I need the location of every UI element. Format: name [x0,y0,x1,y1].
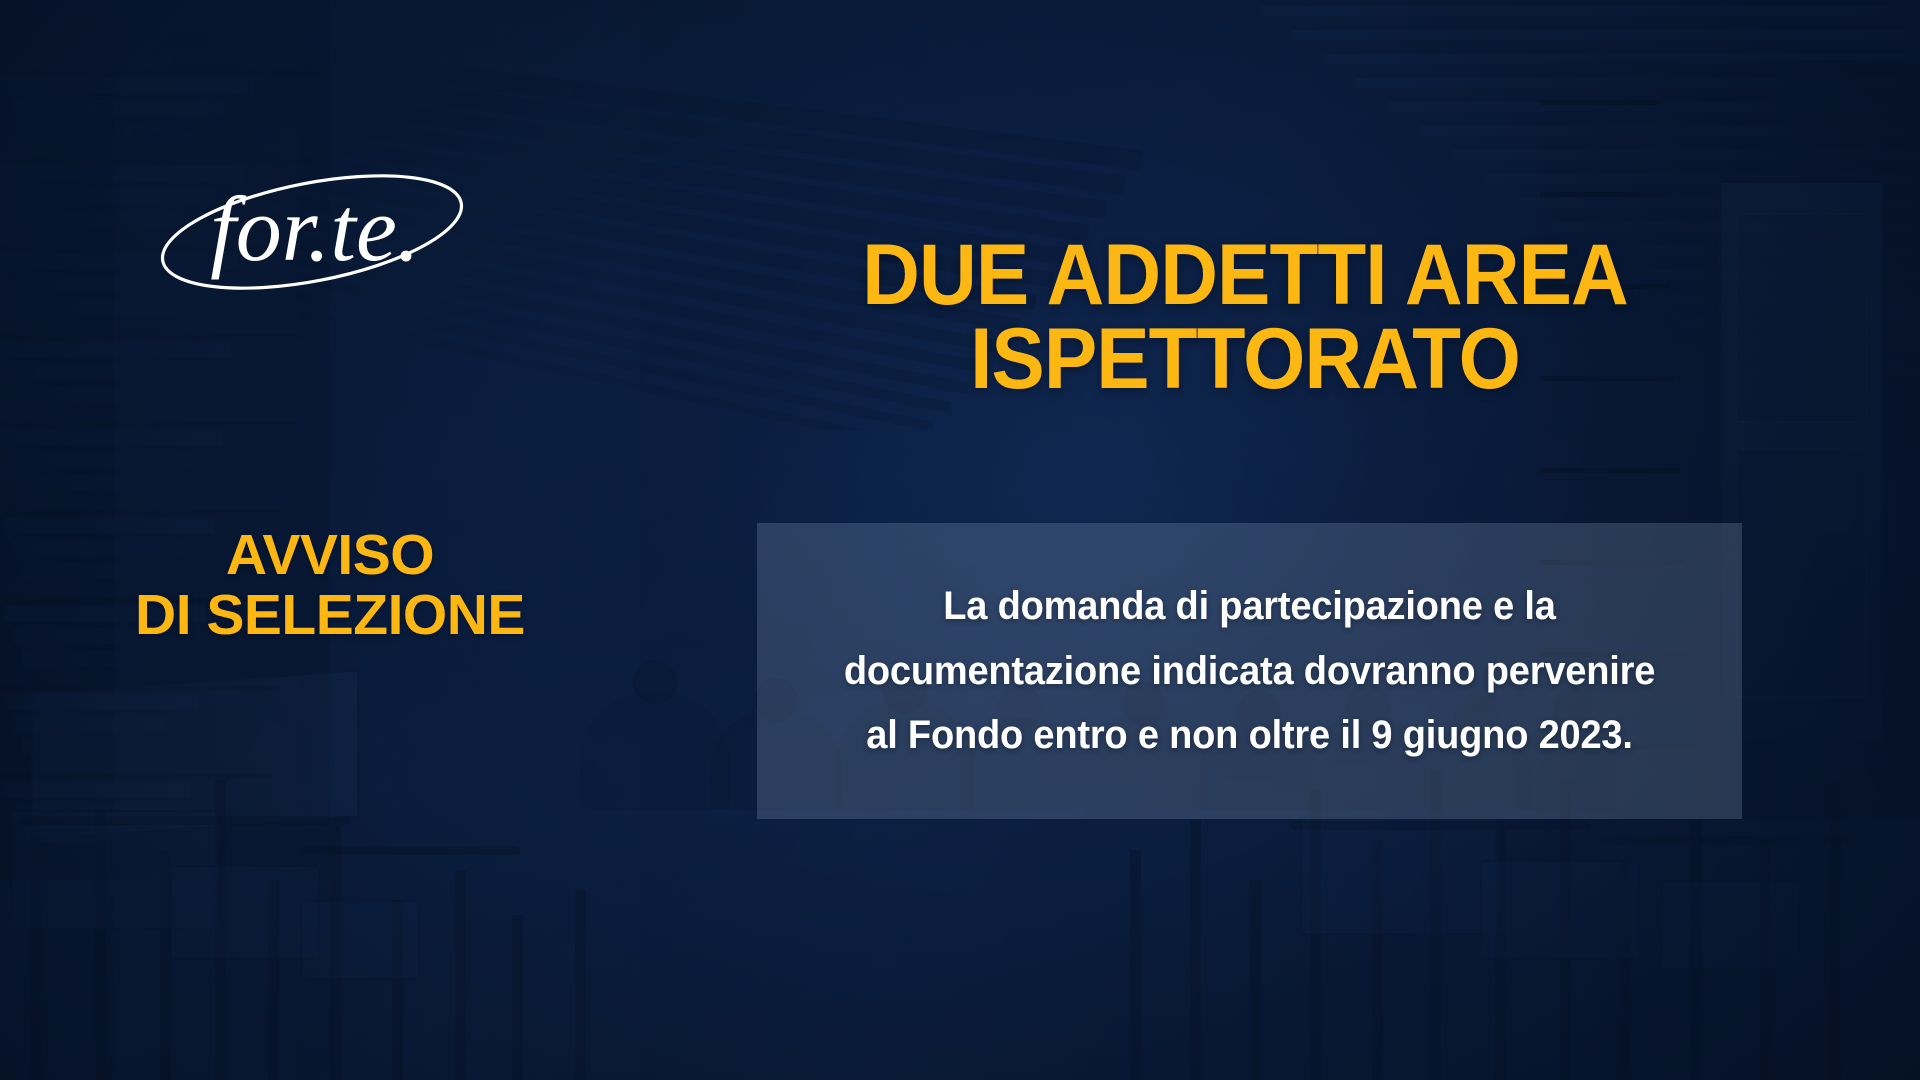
logo-wordmark: for.te. [210,178,420,280]
deadline-notice-panel: La domanda di partecipazione e la docume… [757,523,1742,819]
page-title-line2: ISPETTORATO [813,317,1678,401]
deadline-notice-text: La domanda di partecipazione e la docume… [823,574,1675,768]
section-label-line2: DI SELEZIONE [120,585,540,645]
forte-logo: for.te. [150,150,480,310]
section-label-line1: AVVISO [120,525,540,585]
poster-content: for.te. AVVISO DI SELEZIONE DUE ADDETTI … [0,0,1920,1080]
page-title: DUE ADDETTI AREA ISPETTORATO [813,233,1678,402]
page-title-line1: DUE ADDETTI AREA [813,233,1678,317]
section-label: AVVISO DI SELEZIONE [120,525,540,646]
poster-canvas: for.te. AVVISO DI SELEZIONE DUE ADDETTI … [0,0,1920,1080]
